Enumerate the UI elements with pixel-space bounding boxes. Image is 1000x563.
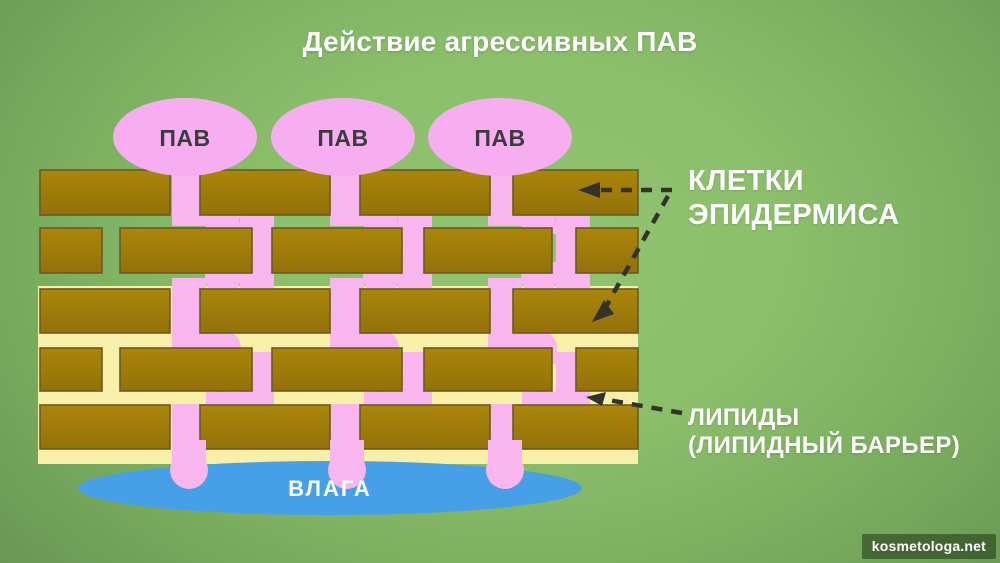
surfactant-label: ПАВ [135, 125, 235, 152]
brick [40, 348, 102, 391]
brick [120, 348, 252, 391]
brick [40, 228, 102, 273]
brick [424, 228, 552, 273]
brick [360, 170, 490, 215]
brick [576, 348, 638, 391]
moisture-label: ВЛАГА [80, 476, 580, 502]
surfactant-label: ПАВ [450, 125, 550, 152]
brick [272, 228, 402, 273]
brick [513, 405, 638, 449]
lipids-line1: ЛИПИДЫ [688, 404, 800, 431]
brick [360, 289, 490, 333]
watermark: kosmetologa.net [862, 534, 996, 559]
epidermis-cells-label: КЛЕТКИ ЭПИДЕРМИСА [688, 164, 899, 232]
brick [120, 228, 252, 273]
epidermis-cells-line2: ЭПИДЕРМИСА [688, 198, 899, 232]
brick [40, 289, 170, 333]
surfactant-label: ПАВ [293, 125, 393, 152]
lipids-line2: (ЛИПИДНЫЙ БАРЬЕР) [688, 432, 960, 460]
brick [200, 289, 330, 333]
brick [272, 348, 402, 391]
epidermis-cells-line1: КЛЕТКИ [688, 165, 804, 197]
brick [200, 405, 330, 449]
brick [40, 405, 170, 449]
brick [513, 170, 638, 215]
brick [424, 348, 552, 391]
brick [200, 170, 330, 215]
lipids-label: ЛИПИДЫ (ЛИПИДНЫЙ БАРЬЕР) [688, 404, 960, 461]
brick [360, 405, 490, 449]
brick [40, 170, 170, 215]
brick [513, 289, 638, 333]
diagram-canvas: Действие агрессивных ПАВ [0, 0, 1000, 563]
